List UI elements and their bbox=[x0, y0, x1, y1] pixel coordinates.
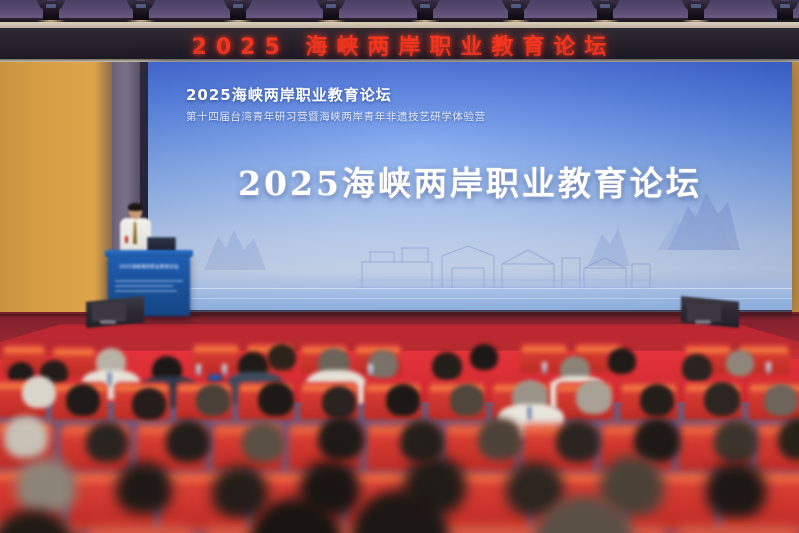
audience-head bbox=[640, 384, 674, 416]
audience-head bbox=[608, 348, 636, 374]
stage-monitor-speaker-left bbox=[86, 296, 144, 328]
audience-head bbox=[116, 462, 172, 514]
audience-head bbox=[432, 352, 462, 380]
audience-area bbox=[0, 338, 799, 533]
audience-head bbox=[682, 354, 712, 382]
led-banner-text: 2025 海峡两岸职业教育论坛 bbox=[192, 29, 616, 61]
audience-head bbox=[86, 422, 128, 462]
audience-head bbox=[704, 382, 740, 416]
audience-head bbox=[576, 380, 612, 414]
podium-banner-text: 2025海峡两岸职业教育论坛 bbox=[108, 264, 190, 270]
audience-head bbox=[470, 344, 498, 370]
screen-header-subtitle: 第十四届台湾青年研习营暨海峡两岸青年非遗技艺研学体验营 bbox=[186, 109, 486, 124]
audience-head bbox=[726, 350, 754, 376]
stage-monitor-speaker-right bbox=[681, 296, 739, 328]
stage-spotlight-icon bbox=[772, 0, 798, 20]
audience-head bbox=[22, 376, 56, 408]
audience-head bbox=[450, 384, 484, 416]
audience-head bbox=[706, 462, 766, 518]
stage-spotlight-icon bbox=[318, 0, 344, 20]
audience-seat bbox=[86, 526, 196, 533]
audience-head bbox=[556, 420, 600, 462]
audience-head bbox=[268, 344, 296, 370]
audience-head bbox=[258, 382, 294, 416]
stage-spotlight-icon bbox=[38, 0, 64, 20]
ink-mountain-graphic-left bbox=[200, 222, 278, 270]
audience-head bbox=[318, 416, 364, 460]
audience-head bbox=[196, 384, 230, 416]
stage-spotlight-icon bbox=[592, 0, 618, 20]
audience-head bbox=[386, 384, 420, 416]
audience-head bbox=[16, 458, 76, 514]
audience-head bbox=[634, 418, 680, 462]
audience-seat bbox=[674, 526, 799, 533]
audience-head bbox=[242, 422, 284, 462]
audience-head bbox=[478, 418, 522, 460]
wall-panel-left bbox=[0, 62, 112, 320]
screen-header-title: 2025海峡两岸职业教育论坛 bbox=[186, 84, 392, 105]
projection-screen: 2025海峡两岸职业教育论坛 第十四届台湾青年研习营暨海峡两岸青年非遗技艺研学体… bbox=[148, 62, 792, 314]
audience-head bbox=[166, 420, 210, 462]
led-banner: 2025 海峡两岸职业教育论坛 bbox=[0, 28, 799, 62]
audience-head bbox=[322, 386, 356, 418]
screen-main-title: 2025海峡两岸职业教育论坛 bbox=[148, 157, 792, 205]
stage-spotlight-icon bbox=[225, 0, 251, 20]
audience-seat bbox=[438, 526, 550, 533]
stage-spotlight-icon bbox=[412, 0, 438, 20]
audience-head bbox=[66, 384, 100, 416]
stage-spotlight-icon bbox=[128, 0, 154, 20]
audience-head bbox=[714, 420, 758, 462]
audience-head bbox=[764, 384, 798, 416]
audience-head bbox=[212, 466, 268, 518]
stage-spotlight-icon bbox=[503, 0, 529, 20]
audience-head bbox=[4, 416, 48, 458]
conference-hall-photo: 2025 海峡两岸职业教育论坛 bbox=[0, 0, 799, 533]
audience-head bbox=[132, 388, 166, 420]
stage-spotlight-icon bbox=[683, 0, 709, 20]
